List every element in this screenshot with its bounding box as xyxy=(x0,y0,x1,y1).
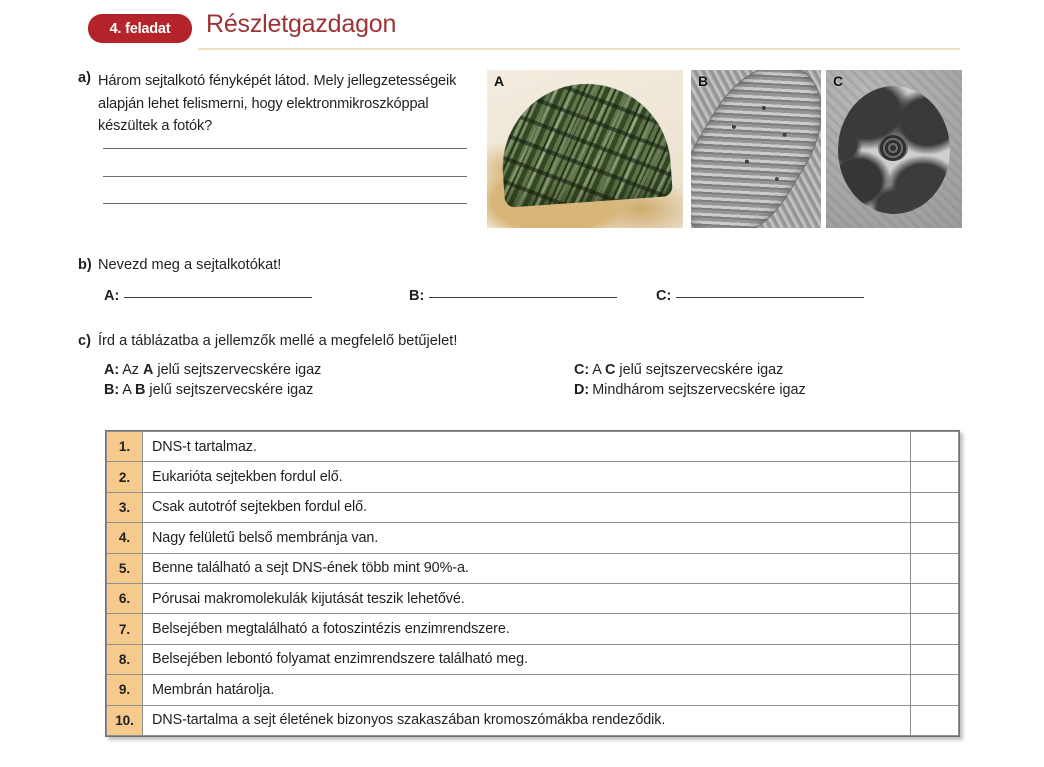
row-number: 1. xyxy=(107,432,143,462)
legend-key-b: B: xyxy=(104,382,119,398)
blank-field-b[interactable]: B: xyxy=(409,288,617,304)
legend-item-a: A:Az A jelű sejtszervecskére igaz xyxy=(104,361,321,381)
answer-line-1[interactable] xyxy=(103,148,467,149)
table-row: 7.Belsejében megtalálható a fotoszintézi… xyxy=(107,614,959,644)
row-statement: Belsejében megtalálható a fotoszintézis … xyxy=(143,614,911,644)
table-row: 3.Csak autotróf sejtekben fordul elő. xyxy=(107,492,959,522)
section-a: a) Három sejtalkotó fényképét látod. Mel… xyxy=(78,70,478,138)
row-answer-cell[interactable] xyxy=(911,523,959,553)
blank-label-c: C: xyxy=(656,288,671,304)
row-answer-cell[interactable] xyxy=(911,644,959,674)
section-c: c) Írd a táblázatba a jellemzők mellé a … xyxy=(78,333,968,349)
header-divider xyxy=(198,48,960,50)
row-answer-cell[interactable] xyxy=(911,432,959,462)
table-row: 5.Benne található a sejt DNS-ének több m… xyxy=(107,553,959,583)
worksheet-header: 4. feladat Részletgazdagon xyxy=(88,12,960,50)
blank-line-a[interactable] xyxy=(124,297,312,298)
blank-label-a: A: xyxy=(104,288,119,304)
row-statement: Eukarióta sejtekben fordul elő. xyxy=(143,462,911,492)
row-number: 4. xyxy=(107,523,143,553)
row-number: 8. xyxy=(107,644,143,674)
section-b-blanks: A: B: C: xyxy=(104,288,968,310)
row-answer-cell[interactable] xyxy=(911,705,959,735)
legend-column-right: C:A C jelű sejtszervecskére igaz D:Mindh… xyxy=(574,361,806,400)
table-row: 8.Belsejében lebontó folyamat enzimrends… xyxy=(107,644,959,674)
row-answer-cell[interactable] xyxy=(911,583,959,613)
blank-field-a[interactable]: A: xyxy=(104,288,312,304)
row-answer-cell[interactable] xyxy=(911,675,959,705)
row-number: 2. xyxy=(107,462,143,492)
table-row: 4.Nagy felületű belső membránja van. xyxy=(107,523,959,553)
section-a-label: a) xyxy=(78,70,98,138)
row-statement: Benne található a sejt DNS-ének több min… xyxy=(143,553,911,583)
row-number: 7. xyxy=(107,614,143,644)
legend-column-left: A:Az A jelű sejtszervecskére igaz B:A B … xyxy=(104,361,321,400)
characteristics-table-body: 1.DNS-t tartalmaz.2.Eukarióta sejtekben … xyxy=(107,432,959,736)
nucleus-body xyxy=(838,86,950,214)
photo-label-c: C xyxy=(833,73,843,89)
photo-chloroplast: A xyxy=(487,70,683,228)
table-row: 10.DNS-tartalma a sejt életének bizonyos… xyxy=(107,705,959,735)
legend-text-b-pre: A xyxy=(122,382,135,398)
nucleolus xyxy=(878,135,908,161)
table-row: 6.Pórusai makromolekulák kijutását teszi… xyxy=(107,583,959,613)
row-statement: Csak autotróf sejtekben fordul elő. xyxy=(143,492,911,522)
legend-text-c-pre: A xyxy=(592,362,605,378)
table-row: 1.DNS-t tartalmaz. xyxy=(107,432,959,462)
row-statement: Membrán határolja. xyxy=(143,675,911,705)
blank-label-b: B: xyxy=(409,288,424,304)
photo-label-b: B xyxy=(698,73,708,89)
legend-text-b-post: jelű sejtszervecskére igaz xyxy=(145,382,313,398)
blank-line-b[interactable] xyxy=(429,297,617,298)
row-statement: Pórusai makromolekulák kijutását teszik … xyxy=(143,583,911,613)
legend-text-d-pre: Mindhárom sejtszervecskére igaz xyxy=(592,382,806,398)
row-statement: Nagy felületű belső membránja van. xyxy=(143,523,911,553)
row-statement: DNS-tartalma a sejt életének bizonyos sz… xyxy=(143,705,911,735)
row-answer-cell[interactable] xyxy=(911,462,959,492)
characteristics-table-grid: 1.DNS-t tartalmaz.2.Eukarióta sejtekben … xyxy=(106,431,959,736)
photo-label-a: A xyxy=(494,73,504,89)
section-b-label: b) xyxy=(78,257,98,273)
section-a-answer-lines xyxy=(103,148,467,231)
legend-item-b: B:A B jelű sejtszervecskére igaz xyxy=(104,381,321,401)
row-answer-cell[interactable] xyxy=(911,614,959,644)
section-a-question: Három sejtalkotó fényképét látod. Mely j… xyxy=(98,70,470,138)
legend-text-a-bold: A xyxy=(143,362,153,378)
row-number: 10. xyxy=(107,705,143,735)
row-number: 9. xyxy=(107,675,143,705)
legend-item-d: D:Mindhárom sejtszervecskére igaz xyxy=(574,381,806,401)
blank-line-c[interactable] xyxy=(676,297,864,298)
row-number: 3. xyxy=(107,492,143,522)
row-answer-cell[interactable] xyxy=(911,492,959,522)
row-answer-cell[interactable] xyxy=(911,553,959,583)
section-c-label: c) xyxy=(78,333,98,349)
section-c-question: Írd a táblázatba a jellemzők mellé a meg… xyxy=(98,333,457,349)
row-number: 6. xyxy=(107,583,143,613)
section-b-question: Nevezd meg a sejtalkotókat! xyxy=(98,257,281,273)
characteristics-table: 1.DNS-t tartalmaz.2.Eukarióta sejtekben … xyxy=(105,430,960,737)
table-row: 2.Eukarióta sejtekben fordul elő. xyxy=(107,462,959,492)
blank-field-c[interactable]: C: xyxy=(656,288,864,304)
legend-text-a-post: jelű sejtszervecskére igaz xyxy=(153,362,321,378)
task-number-badge: 4. feladat xyxy=(88,14,192,43)
legend-text-c-post: jelű sejtszervecskére igaz xyxy=(615,362,783,378)
legend-key-a: A: xyxy=(104,362,119,378)
legend-key-c: C: xyxy=(574,362,589,378)
legend-text-c-bold: C xyxy=(605,362,615,378)
answer-line-3[interactable] xyxy=(103,203,467,204)
row-number: 5. xyxy=(107,553,143,583)
row-statement: DNS-t tartalmaz. xyxy=(143,432,911,462)
section-b: b) Nevezd meg a sejtalkotókat! A: B: C: xyxy=(78,257,968,273)
answer-line-2[interactable] xyxy=(103,176,467,177)
page-title: Részletgazdagon xyxy=(206,10,396,39)
mitochondrion-granules xyxy=(691,70,821,228)
legend-text-b-bold: B xyxy=(135,382,145,398)
legend-text-a-pre: Az xyxy=(122,362,143,378)
legend-item-c: C:A C jelű sejtszervecskére igaz xyxy=(574,361,806,381)
table-row: 9.Membrán határolja. xyxy=(107,675,959,705)
legend-key-d: D: xyxy=(574,382,589,398)
photo-mitochondrion: B xyxy=(691,70,821,228)
row-statement: Belsejében lebontó folyamat enzimrendsze… xyxy=(143,644,911,674)
photo-nucleus: C xyxy=(826,70,962,228)
